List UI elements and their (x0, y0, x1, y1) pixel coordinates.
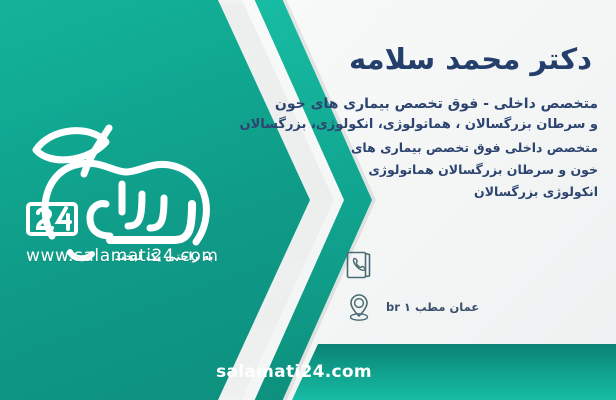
contact-phone-row[interactable] (342, 248, 602, 282)
description-line-3: متخصص داخلی فوق تخصص بیماری های (128, 138, 598, 157)
page-title: دکتر محمد سلامه (172, 42, 592, 77)
description-line-1: متخصص داخلی - فوق تخصص بیماری های خون (128, 94, 598, 115)
description-line-4: خون و سرطان بزرگسالان هماتولوژی (128, 160, 598, 179)
doctor-description: متخصص داخلی - فوق تخصص بیماری های خون و … (128, 94, 598, 201)
location-pin-icon[interactable] (342, 290, 376, 324)
contact-location-label: عمان مطب ۱ br (386, 300, 479, 314)
description-line-2: و سرطان بزرگسالان ، هماتولوژی، انکولوژی،… (128, 115, 598, 135)
business-card: به راحتی یک لبخند www.salamati24.com دکت… (0, 0, 616, 400)
phone-book-icon[interactable] (342, 248, 376, 282)
contact-list: عمان مطب ۱ br (342, 248, 602, 332)
logo-website-url: www.salamati24.com (26, 246, 218, 266)
contact-location-row[interactable]: عمان مطب ۱ br (342, 290, 602, 324)
description-line-5: انکولوژی بزرگسالان (128, 182, 598, 201)
